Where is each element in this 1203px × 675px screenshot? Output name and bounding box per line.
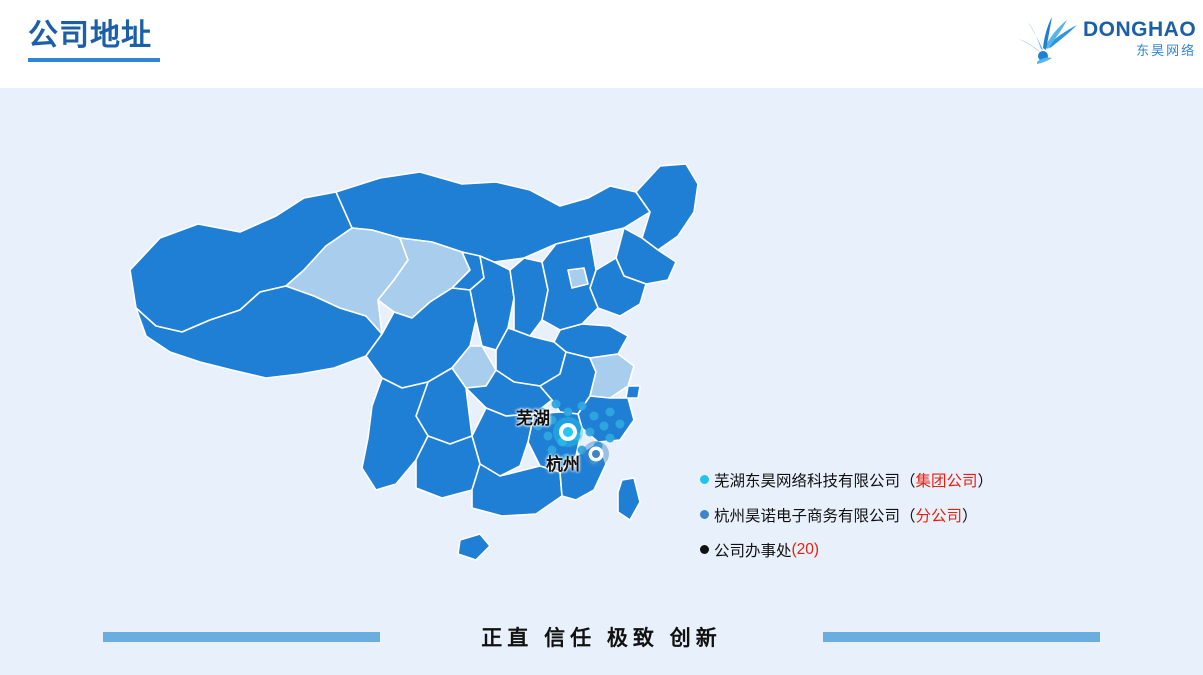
legend-dot-icon bbox=[700, 545, 709, 554]
logo-text: DONGHAO 东昊网络 bbox=[1083, 18, 1196, 60]
footer-bar-left bbox=[103, 632, 380, 642]
marker-hangzhou bbox=[583, 441, 609, 467]
legend: 芜湖东昊网络科技有限公司（集团公司） 杭州昊诺电子商务有限公司（分公司） 公司办… bbox=[700, 462, 1170, 567]
legend-emphasis: 集团公司 bbox=[916, 469, 978, 491]
legend-item-branch-company: 杭州昊诺电子商务有限公司（分公司） bbox=[700, 497, 1170, 532]
legend-item-group-company: 芜湖东昊网络科技有限公司（集团公司） bbox=[700, 462, 1170, 497]
legend-dot-icon bbox=[700, 510, 709, 519]
logo-mark-icon bbox=[1017, 16, 1079, 66]
legend-label: 杭州昊诺电子商务有限公司（ bbox=[714, 504, 916, 526]
legend-label: 芜湖东昊网络科技有限公司（ bbox=[714, 469, 916, 491]
legend-dot-icon bbox=[700, 475, 709, 484]
china-map-svg bbox=[90, 120, 710, 600]
slide: 公司地址 DONGHAO 东 bbox=[0, 0, 1203, 675]
page-title: 公司地址 bbox=[28, 18, 160, 54]
page-title-wrap: 公司地址 bbox=[28, 18, 160, 62]
company-logo: DONGHAO 东昊网络 bbox=[1017, 12, 1181, 74]
legend-suffix: ） bbox=[978, 469, 994, 491]
china-map: 芜湖 杭州 bbox=[90, 120, 710, 600]
legend-item-offices: 公司办事处(20) bbox=[700, 532, 1170, 567]
legend-emphasis: (20) bbox=[792, 541, 820, 559]
legend-label: 公司办事处 bbox=[714, 539, 792, 561]
slide-header: 公司地址 DONGHAO 东 bbox=[0, 0, 1203, 88]
marker-wuhu bbox=[553, 417, 583, 447]
map-label-wuhu: 芜湖 bbox=[516, 404, 550, 429]
legend-emphasis: 分公司 bbox=[916, 504, 963, 526]
logo-name-cn: 东昊网络 bbox=[1083, 42, 1196, 60]
title-underline bbox=[28, 58, 160, 62]
footer-slogan: 正直 信任 极致 创新 bbox=[380, 622, 823, 652]
legend-suffix: ） bbox=[962, 504, 978, 526]
footer-bar-right bbox=[823, 632, 1100, 642]
map-label-hangzhou: 杭州 bbox=[546, 450, 580, 475]
logo-name-en: DONGHAO bbox=[1083, 18, 1196, 42]
